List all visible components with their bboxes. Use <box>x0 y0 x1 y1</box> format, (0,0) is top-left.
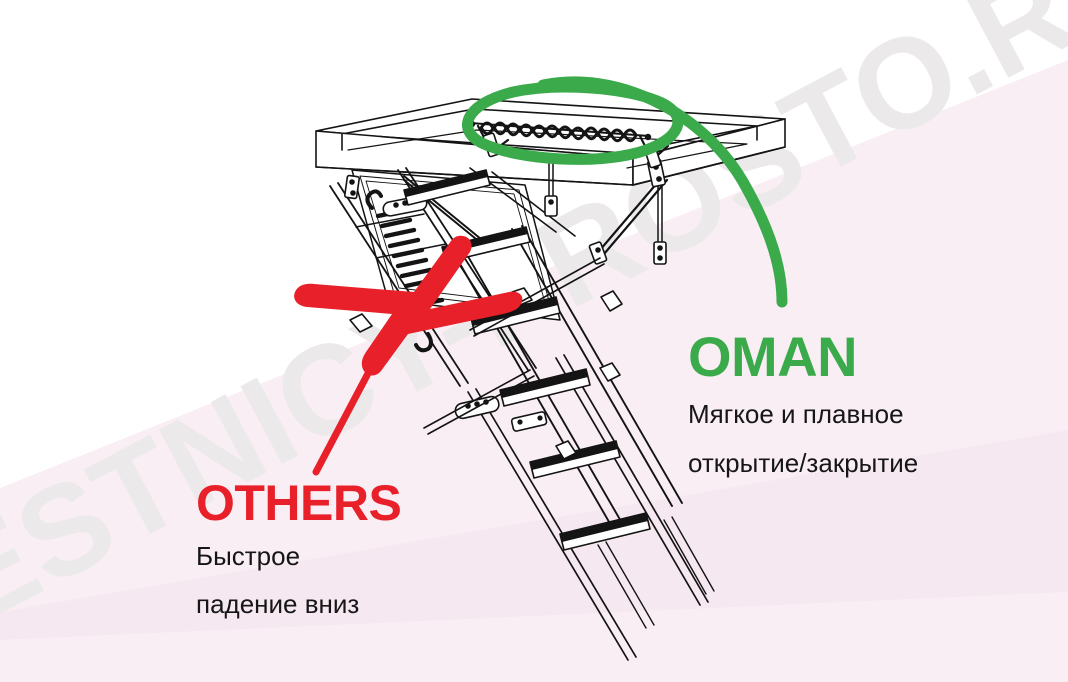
others-subtitle-line2: падение вниз <box>196 586 401 624</box>
oman-subtitle-line1: Мягкое и плавное <box>688 396 918 434</box>
oman-subtitle-line2: открытие/закрытие <box>688 445 918 483</box>
coil-spring-reject-arrow <box>294 236 522 376</box>
others-title: OTHERS <box>196 478 401 528</box>
oman-title: OMAN <box>688 329 918 385</box>
others-leader-line <box>316 345 383 472</box>
others-subtitle-line1: Быстрое <box>196 538 401 576</box>
comparison-infographic: LESTNICY-PROSTO.RU <box>0 0 1068 682</box>
others-callout: OTHERS Быстрое падение вниз <box>196 478 401 623</box>
oman-callout: OMAN Мягкое и плавное открытие/закрытие <box>688 329 918 482</box>
